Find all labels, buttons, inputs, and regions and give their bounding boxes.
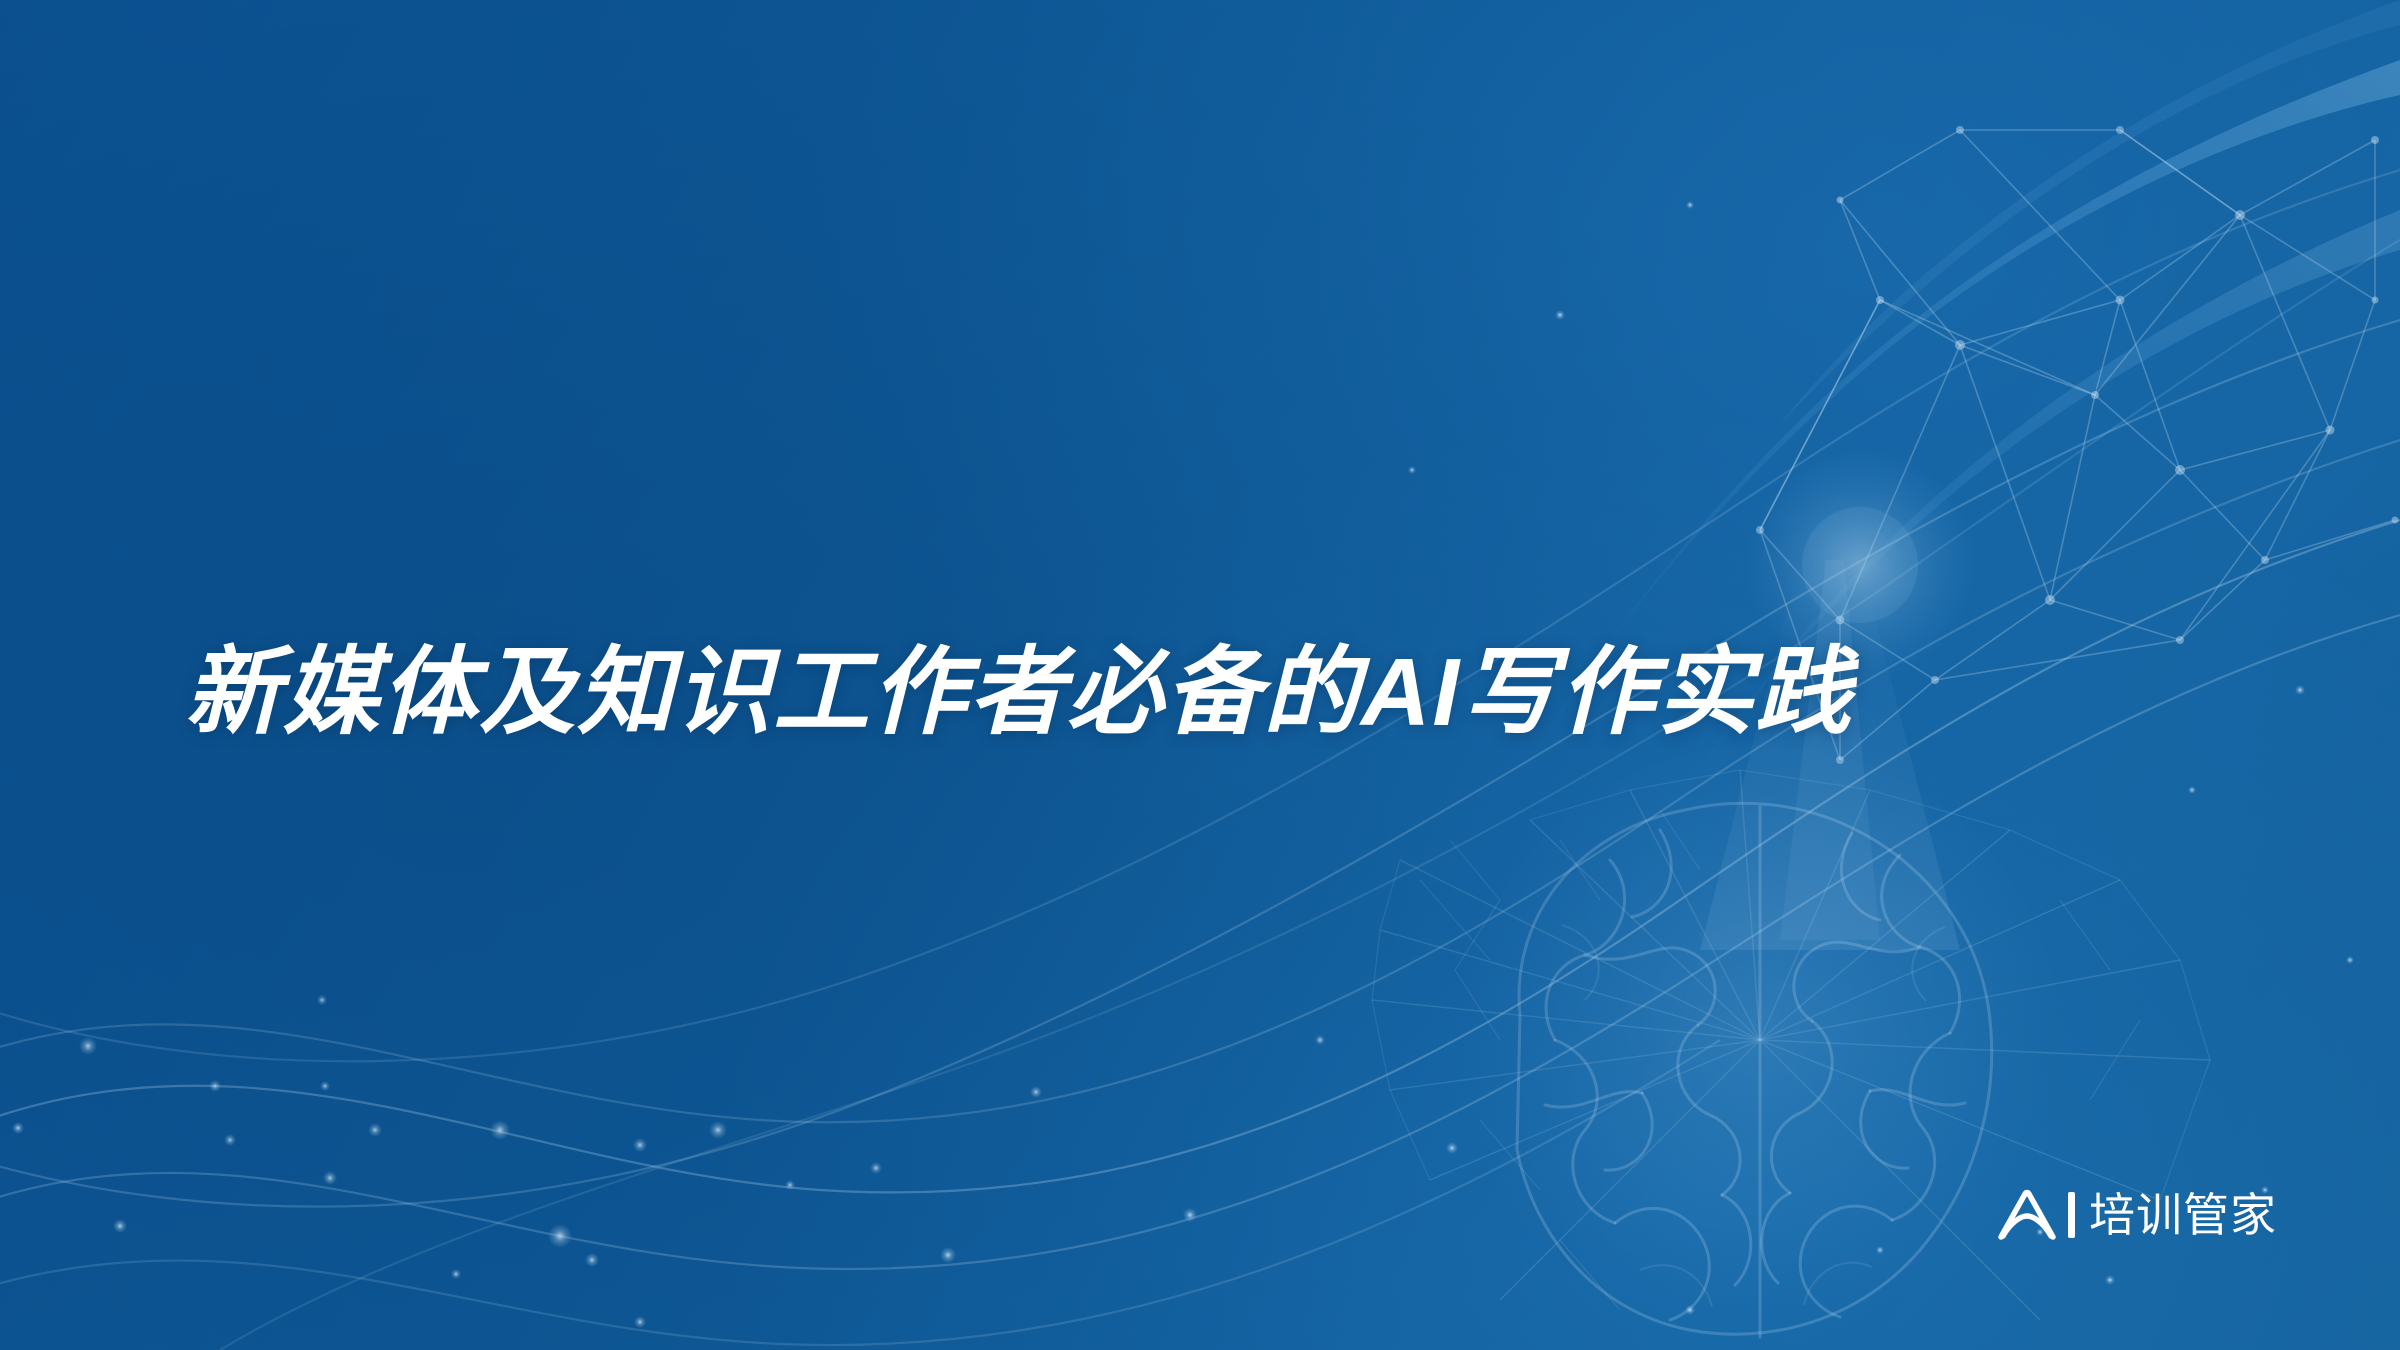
ai-logo-mark-icon xyxy=(1996,1189,2058,1241)
logo-divider-bar xyxy=(2068,1192,2075,1238)
brand-logo: 培训管家 xyxy=(1996,1186,2277,1244)
flowing-wave-lines xyxy=(0,170,2400,1350)
page-title: 新媒体及知识工作者必备的AI写作实践 xyxy=(185,640,2085,746)
ai-brain-illustration xyxy=(1460,745,2060,1345)
slide-canvas: 新媒体及知识工作者必备的AI写作实践 培训管家 xyxy=(0,0,2400,1350)
logo-brand-text: 培训管家 xyxy=(2089,1192,2277,1238)
